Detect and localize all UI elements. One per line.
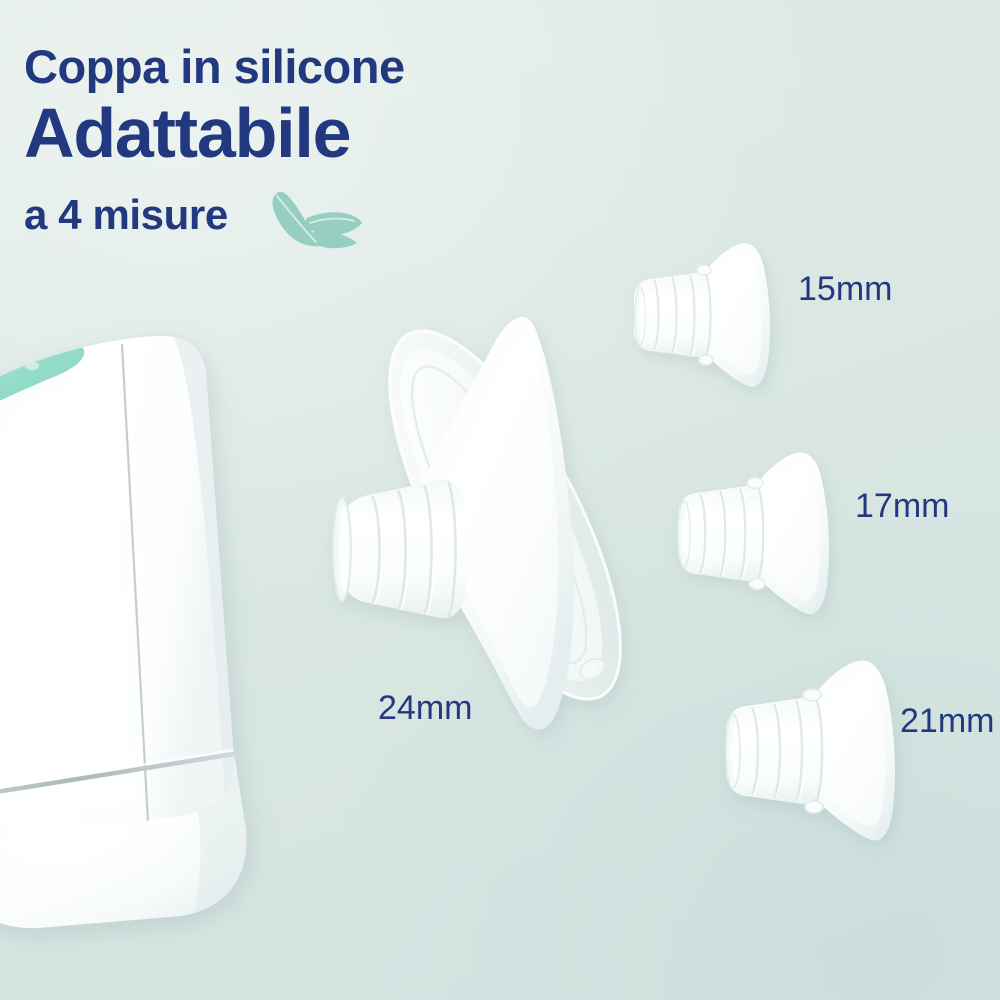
headline-line-3: a 4 misure bbox=[24, 193, 228, 237]
insert-17mm bbox=[660, 447, 872, 635]
insert-neck bbox=[634, 265, 713, 365]
breast-pump-body bbox=[0, 330, 334, 930]
insert-15mm bbox=[618, 238, 808, 406]
size-label-15mm: 15mm bbox=[798, 270, 892, 309]
headline-line-3-row: a 4 misure bbox=[24, 179, 405, 251]
size-label-24mm: 24mm bbox=[378, 689, 472, 728]
size-label-17mm: 17mm bbox=[855, 487, 949, 526]
feather-icon bbox=[262, 185, 366, 251]
flange-24mm bbox=[320, 300, 630, 780]
insert-neck bbox=[726, 689, 823, 813]
product-feature-poster: Coppa in silicone Adattabile a 4 misure bbox=[0, 0, 1000, 1000]
insert-21mm bbox=[708, 655, 944, 863]
insert-neck bbox=[678, 478, 765, 590]
flange-neck bbox=[333, 480, 466, 618]
headline-line-1: Coppa in silicone bbox=[24, 42, 405, 92]
size-label-21mm: 21mm bbox=[900, 702, 994, 741]
headline-block: Coppa in silicone Adattabile a 4 misure bbox=[24, 42, 405, 251]
headline-line-2: Adattabile bbox=[24, 96, 405, 172]
